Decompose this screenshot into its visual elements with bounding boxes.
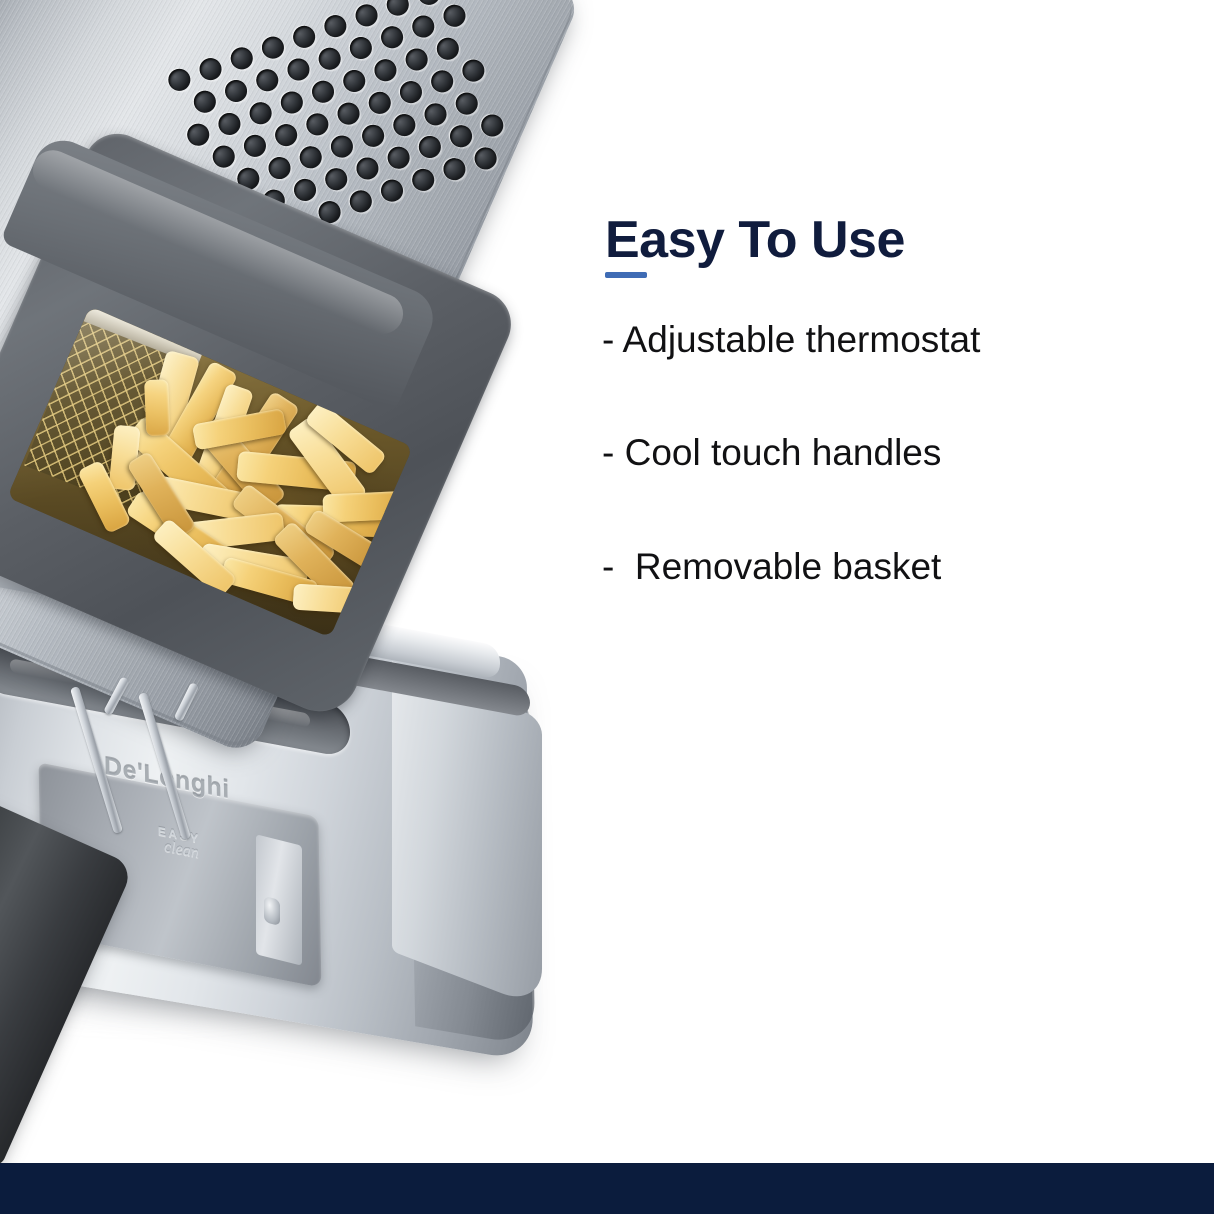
vent-hole bbox=[472, 144, 500, 172]
vent-hole bbox=[390, 111, 418, 139]
vent-hole bbox=[190, 88, 218, 116]
product-photo: De'Longhi EASY clean bbox=[0, 0, 600, 1163]
vent-hole bbox=[253, 66, 281, 94]
latch-knob bbox=[264, 896, 280, 926]
vent-hole bbox=[322, 165, 350, 193]
vent-hole bbox=[397, 78, 425, 106]
vent-hole bbox=[272, 121, 300, 149]
vent-hole bbox=[478, 112, 506, 140]
vent-hole bbox=[378, 23, 406, 51]
product-photo-scene: De'Longhi EASY clean bbox=[0, 0, 600, 1163]
vent-hole bbox=[422, 100, 450, 128]
vent-hole bbox=[247, 99, 275, 127]
feature-item: - Adjustable thermostat bbox=[602, 318, 1202, 362]
vent-hole bbox=[415, 0, 443, 8]
vent-hole bbox=[440, 2, 468, 30]
vent-hole bbox=[453, 90, 481, 118]
vent-hole bbox=[440, 155, 468, 183]
vent-hole bbox=[447, 122, 475, 150]
vent-hole bbox=[328, 133, 356, 161]
product-feature-card: De'Longhi EASY clean bbox=[0, 0, 1214, 1214]
vent-hole bbox=[384, 0, 412, 19]
vent-hole bbox=[378, 177, 406, 205]
vent-hole bbox=[353, 155, 381, 183]
vent-hole bbox=[415, 133, 443, 161]
vent-hole bbox=[403, 46, 431, 74]
vent-hole bbox=[309, 78, 337, 106]
vent-hole bbox=[241, 132, 269, 160]
vent-hole bbox=[266, 154, 294, 182]
vent-hole bbox=[428, 68, 456, 96]
vent-hole bbox=[384, 144, 412, 172]
feature-item: - Cool touch handles bbox=[602, 431, 1202, 475]
vent-hole bbox=[215, 110, 243, 138]
vent-hole bbox=[459, 57, 487, 85]
page-title: Easy To Use bbox=[605, 213, 905, 268]
vent-hole bbox=[297, 143, 325, 171]
feature-text-panel: Easy To Use - Adjustable thermostat- Coo… bbox=[600, 0, 1214, 1163]
vent-hole bbox=[365, 89, 393, 117]
accent-divider bbox=[605, 272, 647, 278]
vent-hole bbox=[371, 56, 399, 84]
vent-hole bbox=[409, 13, 437, 41]
bottom-brand-bar bbox=[0, 1163, 1214, 1214]
feature-item: - Removable basket bbox=[602, 545, 1202, 589]
vent-hole bbox=[359, 122, 387, 150]
vent-hole bbox=[434, 35, 462, 63]
vent-hole bbox=[334, 100, 362, 128]
vent-hole bbox=[303, 111, 331, 139]
vent-hole bbox=[340, 67, 368, 95]
feature-list: - Adjustable thermostat- Cool touch hand… bbox=[602, 318, 1202, 589]
vent-hole bbox=[315, 45, 343, 73]
vent-hole bbox=[409, 166, 437, 194]
vent-hole bbox=[284, 56, 312, 84]
vent-hole bbox=[347, 187, 375, 215]
vent-hole bbox=[222, 77, 250, 105]
vent-hole bbox=[278, 88, 306, 116]
vent-hole bbox=[209, 143, 237, 171]
vent-hole bbox=[291, 176, 319, 204]
vent-hole bbox=[346, 34, 374, 62]
panel-latch bbox=[256, 834, 302, 965]
